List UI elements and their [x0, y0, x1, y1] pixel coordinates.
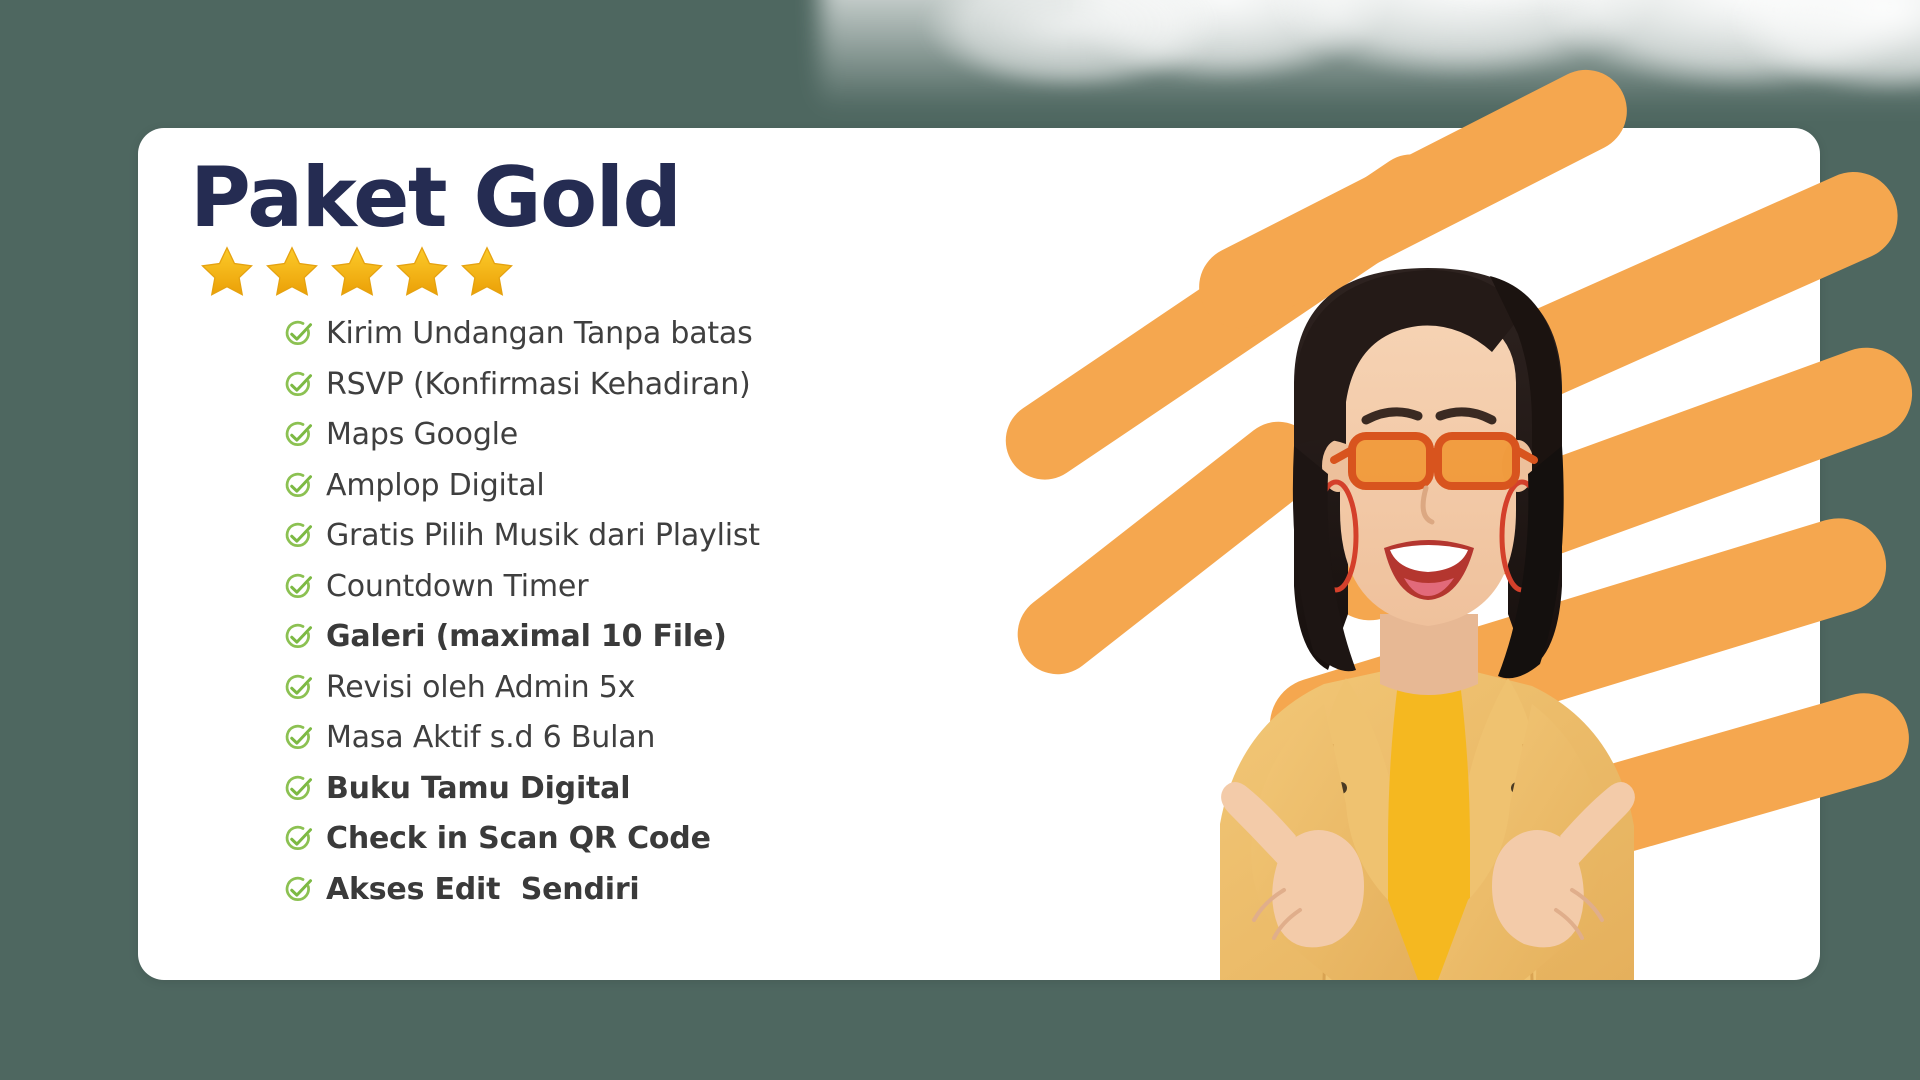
check-circle-icon	[284, 673, 314, 703]
check-circle-icon	[284, 875, 314, 905]
feature-label: Buku Tamu Digital	[326, 774, 630, 804]
feature-item: Maps Google	[284, 410, 954, 461]
feature-label: Gratis Pilih Musik dari Playlist	[326, 521, 760, 551]
woman-photo	[1088, 184, 1708, 980]
feature-label: RSVP (Konfirmasi Kehadiran)	[326, 370, 751, 400]
check-circle-icon	[284, 471, 314, 501]
star-icon	[391, 241, 453, 303]
feature-item: Buku Tamu Digital	[284, 764, 954, 815]
check-circle-icon	[284, 420, 314, 450]
feature-item: Gratis Pilih Musik dari Playlist	[284, 511, 954, 562]
feature-label: Kirim Undangan Tanpa batas	[326, 319, 753, 349]
check-circle-icon	[284, 824, 314, 854]
feature-label: Check in Scan QR Code	[326, 824, 711, 854]
pricing-card: Paket Gold Kirim Undangan Tanpa batasRSV	[138, 128, 1820, 980]
feature-label: Countdown Timer	[326, 572, 588, 602]
check-circle-icon	[284, 622, 314, 652]
feature-list: Kirim Undangan Tanpa batasRSVP (Konfirma…	[284, 309, 954, 915]
plan-details: Paket Gold Kirim Undangan Tanpa batasRSV	[194, 138, 954, 915]
star-icon	[326, 241, 388, 303]
feature-item: Galeri (maximal 10 File)	[284, 612, 954, 663]
feature-item: Amplop Digital	[284, 461, 954, 512]
photo-container	[1088, 184, 1708, 980]
check-circle-icon	[284, 774, 314, 804]
page-title: Paket Gold	[190, 156, 954, 239]
feature-item: Check in Scan QR Code	[284, 814, 954, 865]
feature-item: Masa Aktif s.d 6 Bulan	[284, 713, 954, 764]
feature-label: Maps Google	[326, 420, 518, 450]
feature-label: Amplop Digital	[326, 471, 545, 501]
feature-label: Masa Aktif s.d 6 Bulan	[326, 723, 655, 753]
feature-item: Kirim Undangan Tanpa batas	[284, 309, 954, 360]
check-circle-icon	[284, 521, 314, 551]
artwork-panel	[968, 128, 1820, 980]
check-circle-icon	[284, 319, 314, 349]
cloud-puff	[1330, 0, 1710, 40]
feature-item: Revisi oleh Admin 5x	[284, 663, 954, 714]
check-circle-icon	[284, 370, 314, 400]
check-circle-icon	[284, 723, 314, 753]
star-icon	[196, 241, 258, 303]
feature-label: Revisi oleh Admin 5x	[326, 673, 635, 703]
rating-stars	[196, 241, 954, 303]
check-circle-icon	[284, 572, 314, 602]
feature-label: Akses Edit Sendiri	[326, 875, 640, 905]
feature-label: Galeri (maximal 10 File)	[326, 622, 727, 652]
star-icon	[456, 241, 518, 303]
feature-item: Countdown Timer	[284, 562, 954, 613]
feature-item: RSVP (Konfirmasi Kehadiran)	[284, 360, 954, 411]
star-icon	[261, 241, 323, 303]
feature-item: Akses Edit Sendiri	[284, 865, 954, 916]
